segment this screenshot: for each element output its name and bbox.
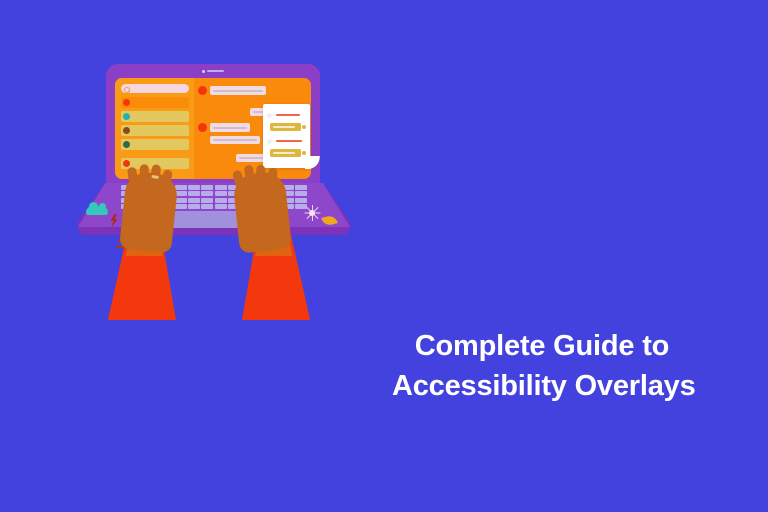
sidebar-item-3[interactable] [121, 125, 189, 136]
message-bubble[interactable] [210, 136, 260, 144]
poster-canvas: Complete Guide to Accessibility Overlays [0, 0, 768, 512]
key[interactable] [175, 204, 187, 209]
panel-highlight-box[interactable] [270, 123, 301, 131]
message-bubble[interactable] [236, 154, 266, 162]
status-dot [123, 141, 130, 148]
right-hand [232, 170, 292, 253]
status-dot [123, 127, 130, 134]
status-dot [123, 99, 130, 106]
status-dot [123, 113, 130, 120]
sidebar-item-1[interactable] [121, 97, 189, 108]
webcam-icon [202, 69, 224, 73]
webcam-bar [207, 70, 224, 72]
finger [140, 164, 149, 186]
key[interactable] [188, 191, 200, 196]
key[interactable] [215, 198, 227, 203]
key[interactable] [175, 185, 187, 190]
message-bubble[interactable] [210, 86, 266, 95]
panel-highlight-box[interactable] [270, 149, 301, 157]
cloud-sticker [86, 206, 108, 215]
key[interactable] [201, 191, 213, 196]
title-line-1: Complete Guide to [392, 326, 692, 366]
sidebar-item-4[interactable] [121, 139, 189, 150]
key[interactable] [295, 191, 307, 196]
title-line-2: Accessibility Overlays [392, 366, 692, 406]
key[interactable] [295, 185, 307, 190]
key[interactable] [215, 204, 227, 209]
person-typing-on-laptop-illustration [60, 55, 360, 320]
list-bullet [267, 139, 272, 144]
key[interactable] [188, 185, 200, 190]
key[interactable] [188, 204, 200, 209]
floating-document-card[interactable] [263, 104, 310, 168]
key[interactable] [201, 204, 213, 209]
key[interactable] [201, 185, 213, 190]
avatar [198, 86, 207, 95]
key[interactable] [188, 198, 200, 203]
panel-text-line [276, 114, 300, 116]
finger [256, 165, 265, 187]
panel-indicator-dot [302, 125, 306, 129]
panel-indicator-dot [302, 151, 306, 155]
sun-sticker [304, 205, 320, 221]
key[interactable] [295, 198, 307, 203]
search-icon [124, 87, 130, 93]
search-input[interactable] [121, 84, 189, 93]
key[interactable] [215, 191, 227, 196]
status-dot [123, 160, 130, 167]
webcam-lens [202, 70, 205, 73]
left-hand [119, 170, 179, 253]
page-title: Complete Guide to Accessibility Overlays [392, 326, 692, 406]
sidebar-item-2[interactable] [121, 111, 189, 122]
message-bubble[interactable] [210, 123, 250, 132]
avatar [198, 123, 207, 132]
panel-text-line [276, 140, 302, 142]
list-bullet [267, 113, 272, 118]
sun-core [309, 210, 315, 216]
key[interactable] [201, 198, 213, 203]
key[interactable] [215, 185, 227, 190]
finger [266, 167, 278, 190]
